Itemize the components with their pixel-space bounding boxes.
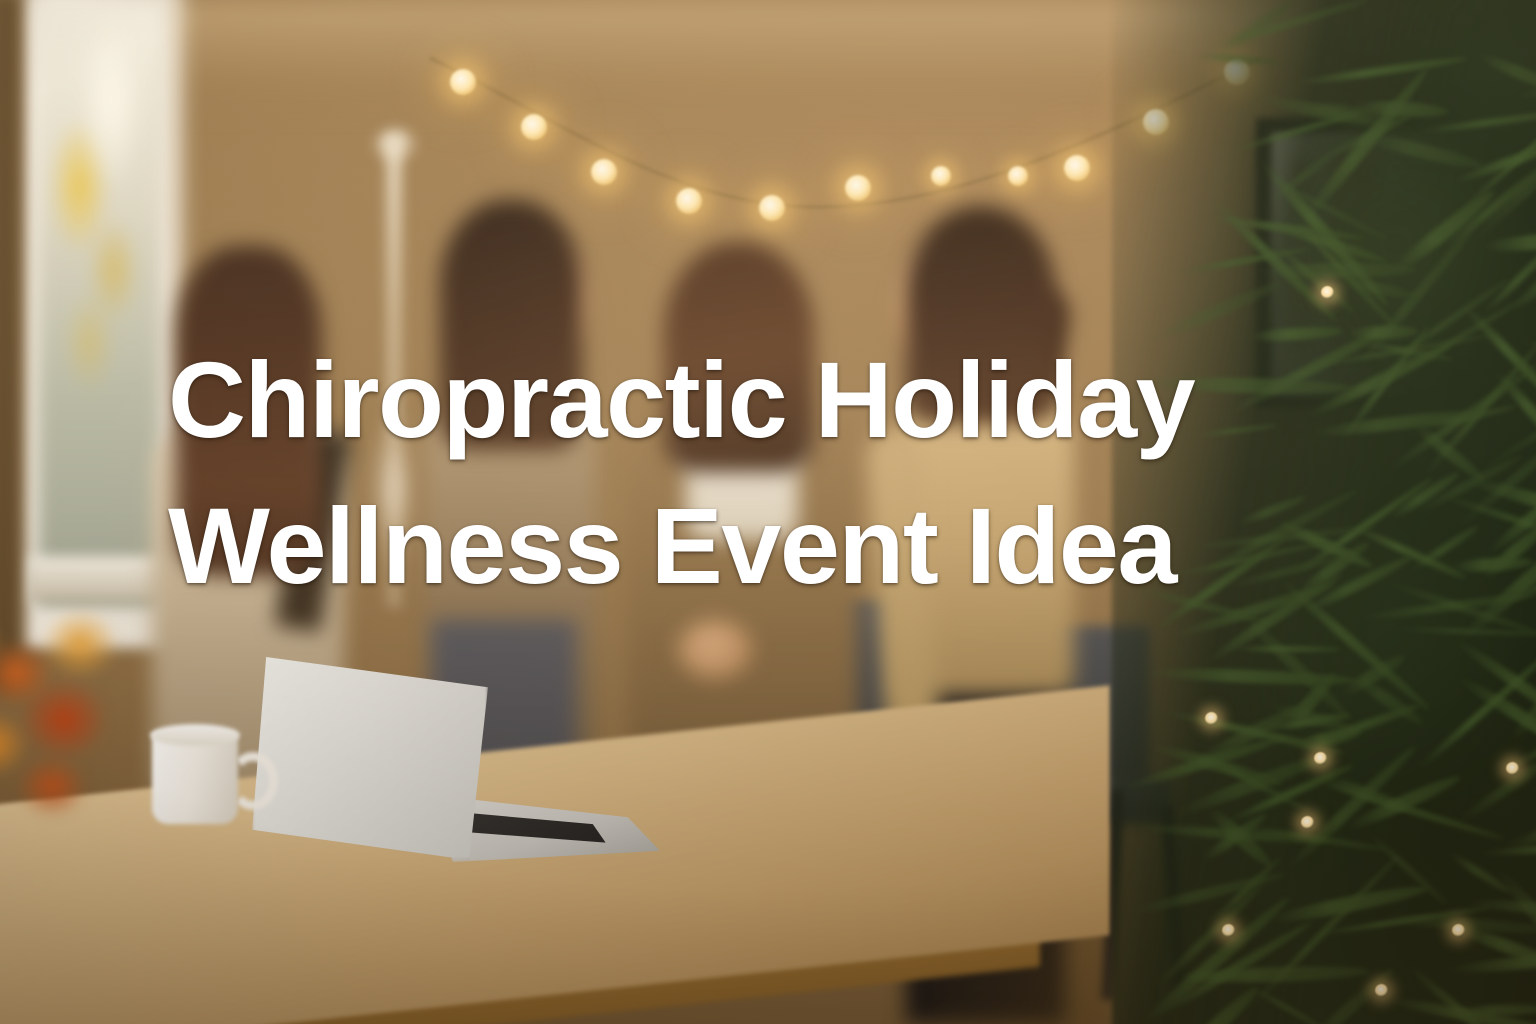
- tree-fairy-light-7: [1506, 762, 1519, 775]
- tree-fairy-light-2: [1314, 752, 1327, 765]
- hero-banner: Chiropractic Holiday Wellness Event Idea: [0, 0, 1536, 1024]
- headline-line-2: Wellness Event Idea: [168, 473, 1438, 619]
- tree-fairy-light-8: [1222, 924, 1235, 937]
- tree-fairy-light-4: [1301, 816, 1314, 829]
- tree-fairy-light-1: [1205, 712, 1218, 725]
- headline-line-1: Chiropractic Holiday: [168, 327, 1438, 473]
- tree-fairy-light-6: [1452, 924, 1465, 937]
- page-title: Chiropractic Holiday Wellness Event Idea: [168, 327, 1438, 619]
- tree-fairy-light-5: [1375, 984, 1388, 997]
- tree-fairy-light-3: [1321, 286, 1334, 299]
